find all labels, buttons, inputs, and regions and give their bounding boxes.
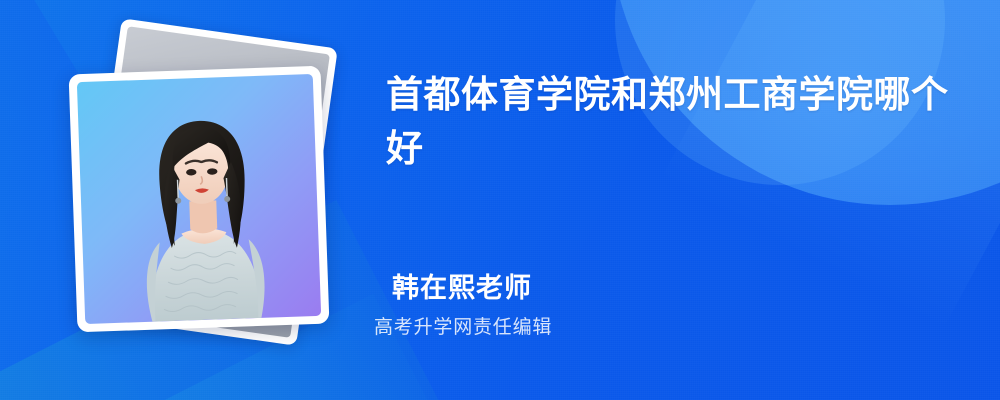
page-title: 首都体育学院和郑州工商学院哪个好 bbox=[386, 68, 956, 176]
photo-card-front bbox=[69, 66, 330, 333]
author-photo bbox=[77, 74, 321, 324]
article-cover-banner: 首都体育学院和郑州工商学院哪个好 韩在熙老师 高考升学网责任编辑 bbox=[0, 0, 1000, 400]
author-role: 高考升学网责任编辑 bbox=[374, 315, 912, 341]
author-byline: 韩在熙老师 高考升学网责任编辑 bbox=[392, 270, 912, 341]
title-block: 首都体育学院和郑州工商学院哪个好 bbox=[386, 68, 956, 176]
photo-card-stack bbox=[45, 22, 345, 362]
author-portrait-figure bbox=[107, 102, 299, 323]
author-name: 韩在熙老师 bbox=[392, 270, 912, 306]
